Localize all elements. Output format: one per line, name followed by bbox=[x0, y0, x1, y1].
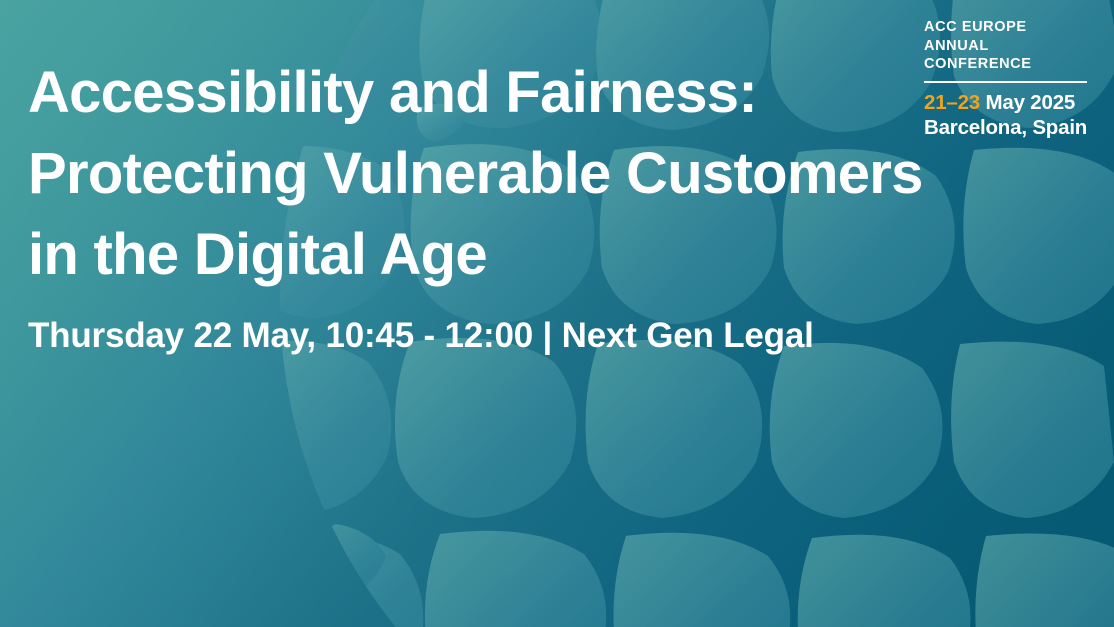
conference-title-slide: Accessibility and Fairness: Protecting V… bbox=[0, 0, 1114, 627]
conference-location: Barcelona, Spain bbox=[924, 115, 1098, 140]
session-details: Thursday 22 May, 10:45 - 12:00 | Next Ge… bbox=[28, 313, 814, 358]
page-title: Accessibility and Fairness: Protecting V… bbox=[28, 52, 988, 295]
logo-divider-rule bbox=[924, 81, 1087, 83]
title-line-1: Accessibility and Fairness: bbox=[28, 52, 988, 133]
conference-date-days: 21–23 bbox=[924, 91, 980, 114]
logo-line-annual-conference: ANNUAL CONFERENCE bbox=[924, 37, 1098, 74]
title-line-2: Protecting Vulnerable Customers bbox=[28, 133, 988, 214]
conference-date-month-year: May 2025 bbox=[980, 91, 1075, 114]
title-line-3: in the Digital Age bbox=[28, 214, 988, 295]
conference-logo-block: ACC EUROPE ANNUAL CONFERENCE 21–23 May 2… bbox=[924, 18, 1098, 140]
logo-line-acc-europe: ACC EUROPE bbox=[924, 18, 1098, 37]
conference-dates: 21–23 May 2025 bbox=[924, 90, 1098, 115]
